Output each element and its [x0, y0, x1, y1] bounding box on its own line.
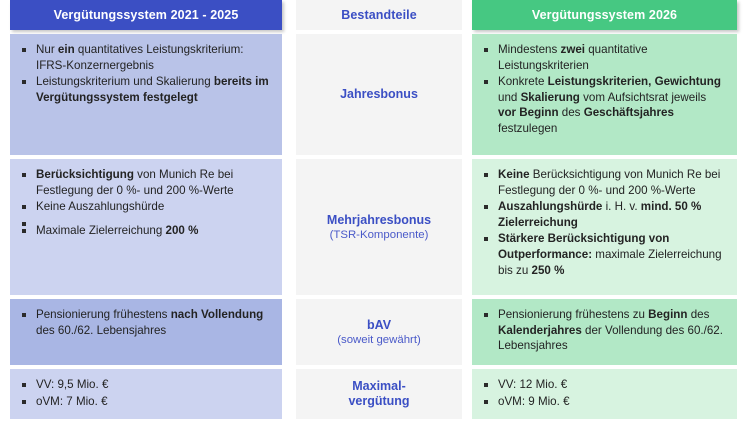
- bullet-item: Mindestens zwei quantitative Leistungskr…: [482, 42, 727, 73]
- new-row-mehrjahresbonus-list: Keine Berücksichtigung von Munich Re bei…: [482, 167, 727, 278]
- column-header-components: Bestandteile: [296, 0, 462, 30]
- component-label-mehrjahresbonus-sub: (TSR-Komponente): [330, 228, 429, 242]
- old-row-jahresbonus: Nur ein quantitatives Leistungskriterium…: [10, 34, 282, 155]
- bullet-item: Maximale Zielerreichung 200 %: [20, 223, 272, 239]
- old-row-mehrjahresbonus-list: Berücksichtigung von Munich Re bei Festl…: [20, 167, 272, 238]
- bullet-item: oVM: 7 Mio. €: [20, 394, 272, 410]
- column-header-new-system: Vergütungssystem 2026: [472, 0, 737, 30]
- column-new-system: Vergütungssystem 2026 Mindestens zwei qu…: [472, 0, 737, 419]
- bullet-item: Keine Berücksichtigung von Munich Re bei…: [482, 167, 727, 198]
- bullet-item: Nur ein quantitatives Leistungskriterium…: [20, 42, 272, 73]
- component-label-maximalverguetung-title: Maximal-: [352, 379, 406, 394]
- component-label-maximalverguetung: Maximal- vergütung: [296, 369, 462, 419]
- old-row-bav-list: Pensionierung frühestens nach Vollendung…: [20, 307, 272, 338]
- component-label-maximalverguetung-title2: vergütung: [348, 394, 409, 409]
- old-row-maximalverguetung-list: VV: 9,5 Mio. €oVM: 7 Mio. €: [20, 377, 272, 409]
- new-row-mehrjahresbonus: Keine Berücksichtigung von Munich Re bei…: [472, 159, 737, 295]
- new-row-maximalverguetung: VV: 12 Mio. €oVM: 9 Mio. €: [472, 369, 737, 419]
- column-components: Bestandteile Jahresbonus Mehrjahresbonus…: [296, 0, 462, 419]
- bullet-item: oVM: 9 Mio. €: [482, 394, 727, 410]
- component-label-mehrjahresbonus: Mehrjahresbonus (TSR-Komponente): [296, 159, 462, 295]
- column-header-old-system: Vergütungssystem 2021 - 2025: [10, 0, 282, 30]
- bullet-item: Pensionierung frühestens zu Beginn des K…: [482, 307, 727, 354]
- old-row-maximalverguetung: VV: 9,5 Mio. €oVM: 7 Mio. €: [10, 369, 282, 419]
- component-label-bav-title: bAV: [367, 318, 391, 333]
- new-row-maximalverguetung-list: VV: 12 Mio. €oVM: 9 Mio. €: [482, 377, 727, 409]
- component-label-mehrjahresbonus-title: Mehrjahresbonus: [327, 213, 431, 228]
- bullet-item: VV: 9,5 Mio. €: [20, 377, 272, 393]
- new-row-bav-list: Pensionierung frühestens zu Beginn des K…: [482, 307, 727, 354]
- component-label-bav: bAV (soweit gewährt): [296, 299, 462, 365]
- new-row-bav: Pensionierung frühestens zu Beginn des K…: [472, 299, 737, 365]
- bullet-item: Leistungskriterium und Skalierung bereit…: [20, 74, 272, 105]
- old-row-bav: Pensionierung frühestens nach Vollendung…: [10, 299, 282, 365]
- new-row-jahresbonus-list: Mindestens zwei quantitative Leistungskr…: [482, 42, 727, 137]
- bullet-item: Konkrete Leistungskriterien, Gewichtung …: [482, 74, 727, 136]
- old-row-jahresbonus-list: Nur ein quantitatives Leistungskriterium…: [20, 42, 272, 105]
- bullet-item: Pensionierung frühestens nach Vollendung…: [20, 307, 272, 338]
- bullet-item: VV: 12 Mio. €: [482, 377, 727, 393]
- component-label-jahresbonus: Jahresbonus: [296, 34, 462, 155]
- component-label-jahresbonus-title: Jahresbonus: [340, 87, 418, 102]
- bullet-item: Auszahlungshürde i. H. v. mind. 50 % Zie…: [482, 199, 727, 230]
- column-old-system: Vergütungssystem 2021 - 2025 Nur ein qua…: [10, 0, 282, 419]
- old-row-mehrjahresbonus: Berücksichtigung von Munich Re bei Festl…: [10, 159, 282, 295]
- new-row-jahresbonus: Mindestens zwei quantitative Leistungskr…: [472, 34, 737, 155]
- bullet-item: Keine Auszahlungshürde: [20, 199, 272, 215]
- bullet-item: Berücksichtigung von Munich Re bei Festl…: [20, 167, 272, 198]
- component-label-bav-sub: (soweit gewährt): [337, 333, 421, 347]
- bullet-spacer: [20, 216, 272, 222]
- compensation-comparison-board: Vergütungssystem 2021 - 2025 Nur ein qua…: [0, 0, 747, 423]
- bullet-item: Stärkere Berücksichtigung von Outperform…: [482, 231, 727, 278]
